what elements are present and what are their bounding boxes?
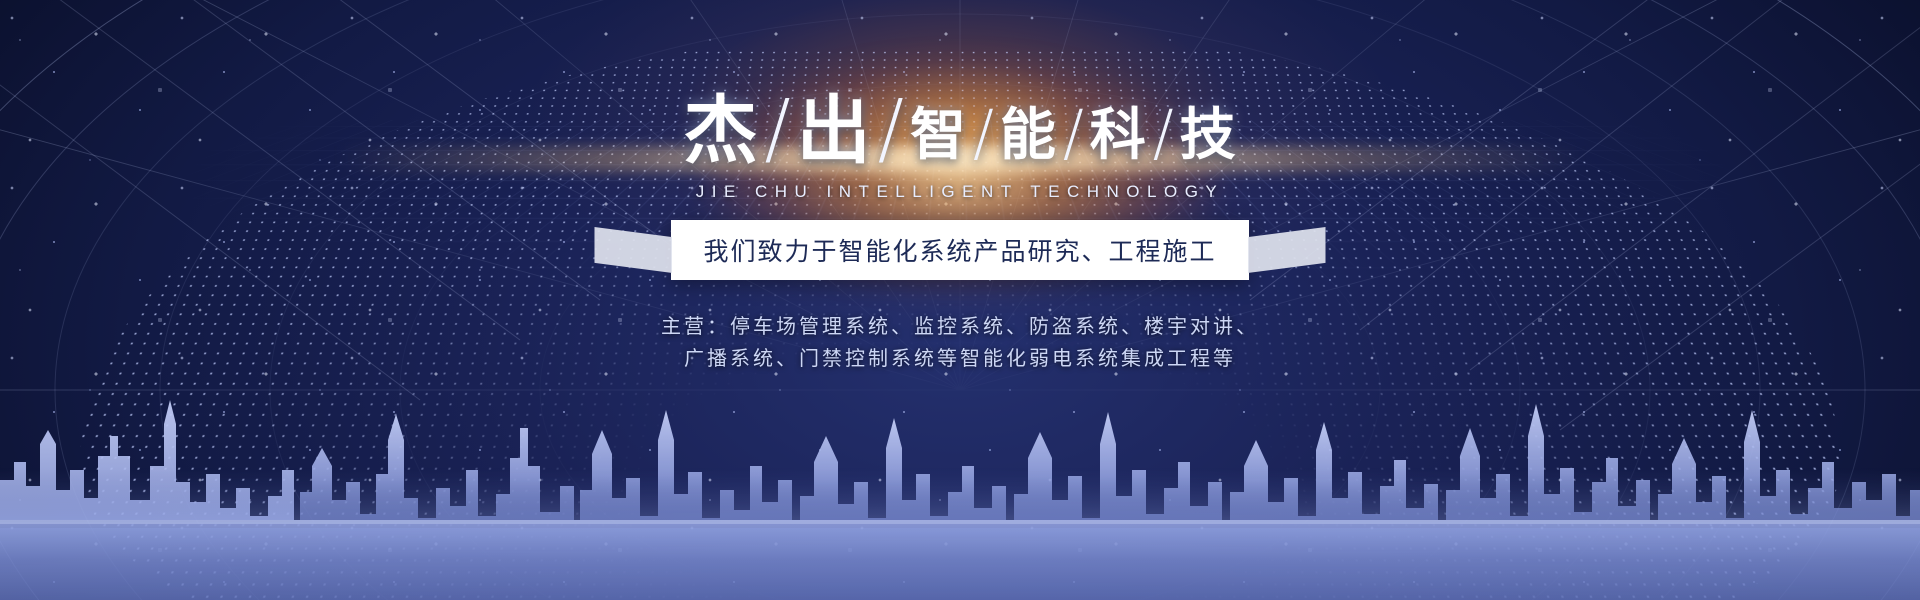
- title-slash-2: /: [872, 90, 910, 168]
- water-reflection: [0, 528, 1920, 600]
- city-skyline-silhouette: [0, 370, 1920, 600]
- title-char-2: 出: [797, 94, 872, 168]
- title-char-6: 技: [1180, 108, 1237, 168]
- description-line-1: 主营：停车场管理系统、监控系统、防盗系统、楼宇对讲、: [0, 310, 1920, 342]
- title-slash-1: /: [758, 90, 796, 168]
- title-char-4: 能: [1000, 108, 1057, 168]
- english-subtitle: JIE CHU INTELLIGENT TECHNOLOGY: [0, 182, 1920, 202]
- title-slash-5: /: [1147, 102, 1180, 168]
- hero-banner: 杰 / 出 / 智 / 能 / 科 / 技 JIE CHU INTELLIGEN…: [0, 0, 1920, 600]
- title-slash-3: /: [967, 102, 1000, 168]
- title-char-3: 智: [910, 108, 967, 168]
- description-block: 主营：停车场管理系统、监控系统、防盗系统、楼宇对讲、 广播系统、门禁控制系统等智…: [0, 310, 1920, 375]
- main-title: 杰 / 出 / 智 / 能 / 科 / 技: [0, 90, 1920, 168]
- ribbon-text: 我们致力于智能化系统产品研究、工程施工: [671, 220, 1248, 280]
- ribbon-tail-right: [1248, 227, 1326, 273]
- title-slash-4: /: [1057, 102, 1090, 168]
- title-char-1: 杰: [683, 94, 758, 168]
- title-char-5: 科: [1090, 108, 1147, 168]
- ribbon-banner: 我们致力于智能化系统产品研究、工程施工: [0, 220, 1920, 280]
- banner-content: 杰 / 出 / 智 / 能 / 科 / 技 JIE CHU INTELLIGEN…: [0, 0, 1920, 375]
- ribbon-tail-left: [594, 227, 672, 273]
